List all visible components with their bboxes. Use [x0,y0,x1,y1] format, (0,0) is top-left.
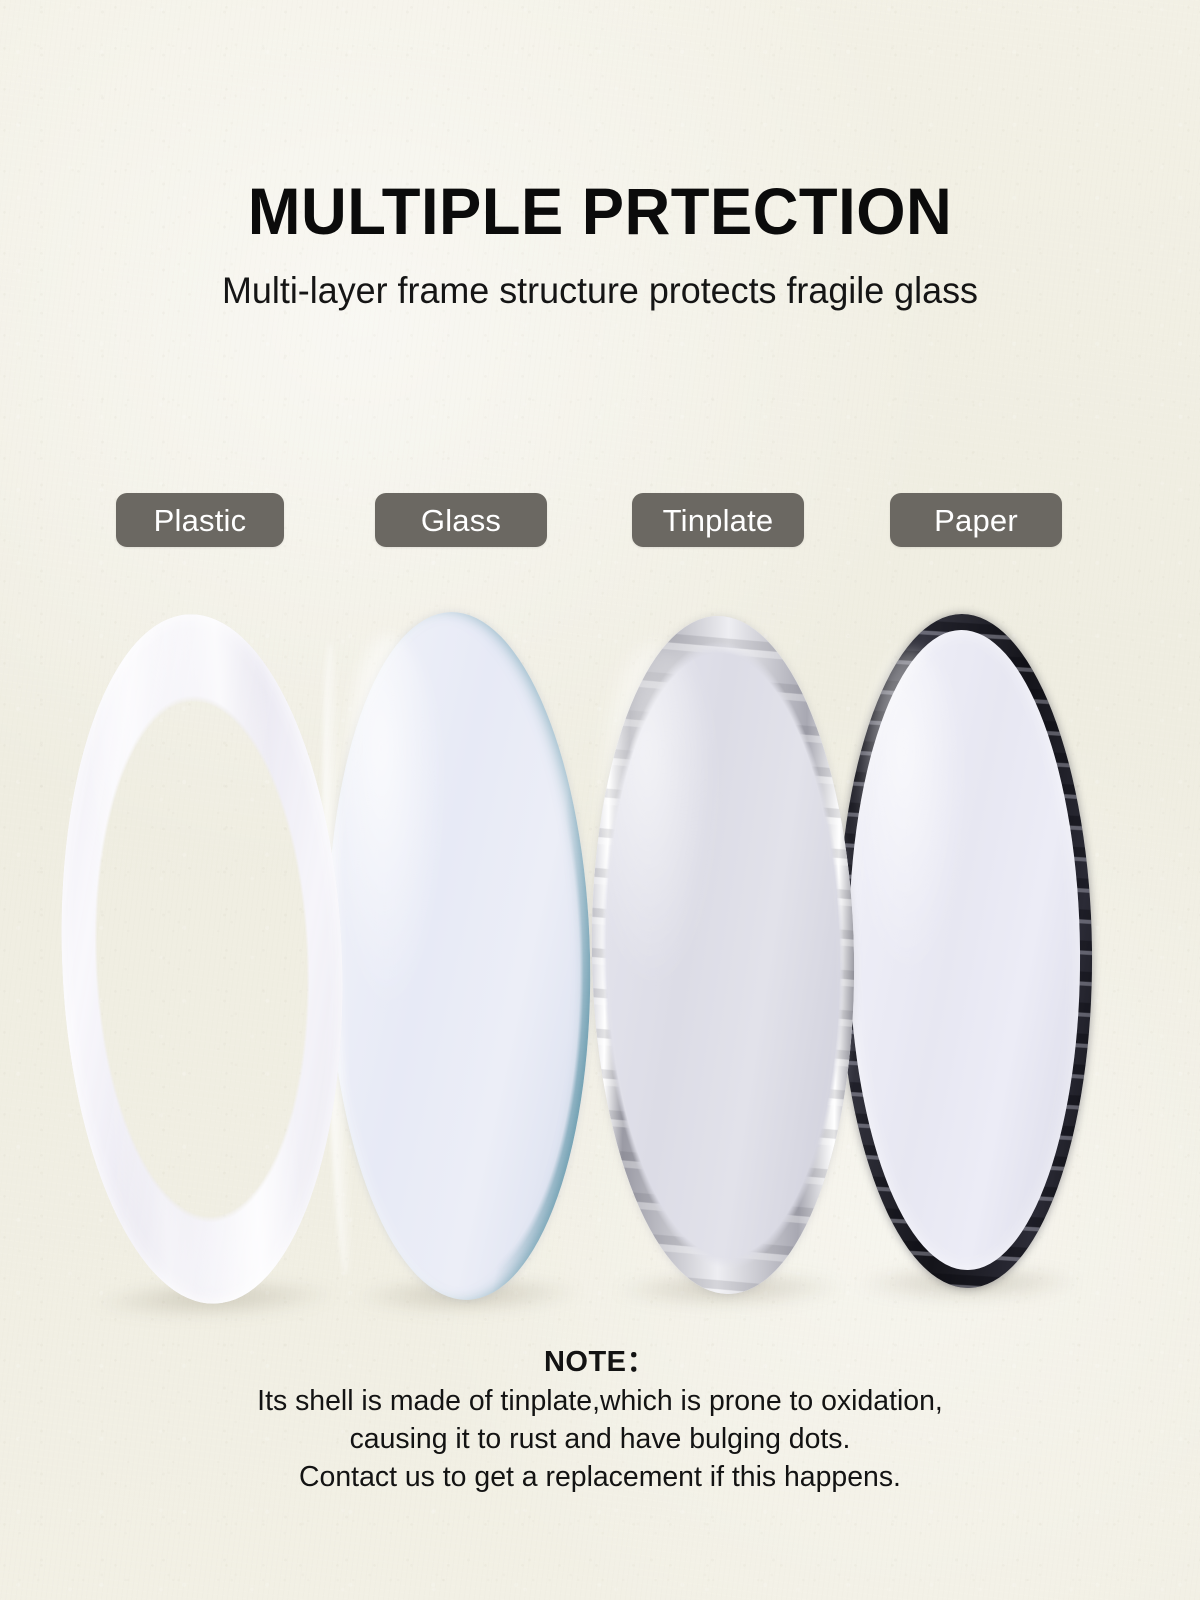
disc-paper-highlight [860,648,965,973]
note-line-2: causing it to rust and have bulging dots… [12,1420,1188,1458]
disc-plastic-ring [49,609,355,1309]
disc-plastic-ring-band [49,609,355,1309]
disc-paper-shadow [857,1267,1081,1303]
disc-paper-edge-texture [834,613,1095,1290]
disc-paper-edge [834,613,1095,1290]
note-heading: NOTE： [0,1342,1200,1382]
page-subtitle: Multi-layer frame structure protects fra… [18,268,1182,314]
note-line-1: Its shell is made of tinplate,which is p… [12,1382,1188,1420]
disc-plastic-ring-body [49,609,355,1309]
disc-tinplate-shadow [613,1272,844,1310]
disc-paper [834,613,1095,1290]
disc-tinplate-rim-specular [586,614,860,1296]
disc-glass-rim-left [317,642,358,1275]
disc-tinplate [586,614,860,1296]
page-title: MULTIPLE PRTECTION [24,172,1176,250]
disc-glass-highlight [336,633,450,1014]
layer-label-paper: Paper [890,493,1062,547]
note-line-3: Contact us to get a replacement if this … [12,1458,1188,1496]
disc-tinplate-highlight [597,643,718,984]
layer-label-glass: Glass [375,493,547,547]
disc-glass-edge [320,609,599,1303]
disc-glass-shadow [352,1277,583,1317]
layer-label-tinplate: Tinplate [632,493,804,547]
disc-plastic-shadow [91,1279,339,1322]
disc-glass-face [320,609,599,1303]
disc-plastic-ring-highlight [49,609,355,1309]
disc-paper-face [845,629,1083,1272]
disc-tinplate-face [586,614,860,1296]
infographic-page: MULTIPLE PRTECTION Multi-layer frame str… [0,0,1200,1600]
disc-glass [320,609,599,1303]
note-block: NOTE： Its shell is made of tinplate,whic… [0,1342,1200,1496]
disc-tinplate-rim [586,614,860,1296]
layer-label-plastic: Plastic [116,493,284,547]
